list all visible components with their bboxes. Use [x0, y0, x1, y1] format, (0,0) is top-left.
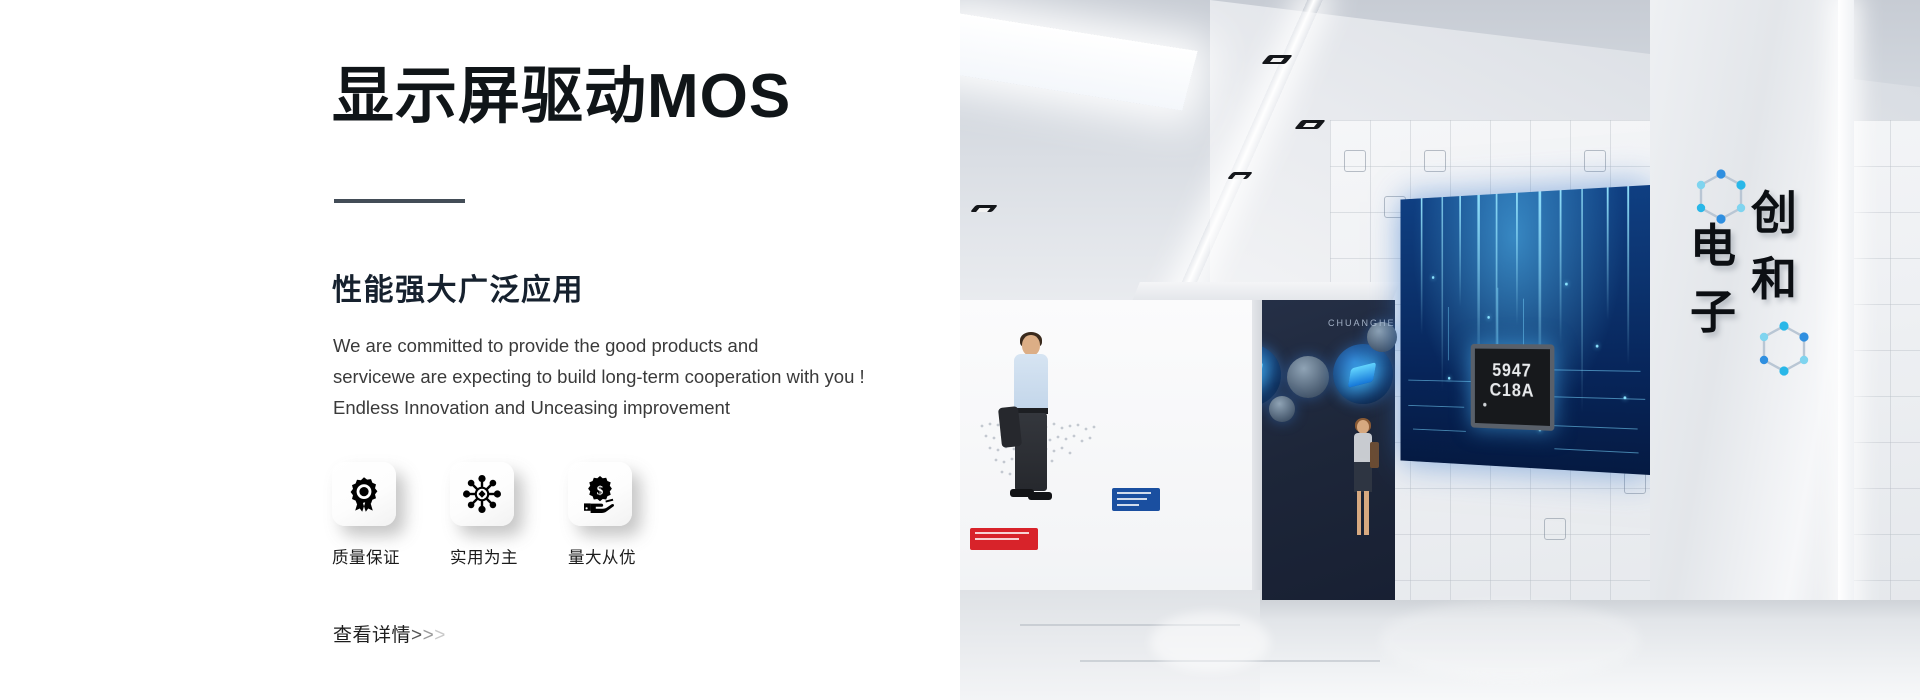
feature-tile	[332, 462, 396, 526]
signage-pillar	[1650, 0, 1850, 700]
body-line-1: We are committed to provide the good pro…	[333, 330, 893, 361]
page-subtitle: 性能强大广泛应用	[332, 265, 584, 309]
blue-wall-sign	[1112, 488, 1160, 511]
wall-medallion	[1287, 356, 1329, 398]
view-details-label: 查看详情	[333, 625, 411, 646]
hero-banner: 显示屏驱动MOS 性能强大广泛应用 We are committed to pr…	[0, 0, 1920, 700]
wall-medallion-chip	[1333, 344, 1393, 404]
svg-text:$: $	[597, 482, 604, 497]
feature-tile: $	[568, 462, 632, 526]
feature-tile	[450, 462, 514, 526]
wall-medallion	[1269, 396, 1295, 422]
wall-tile-icon	[1584, 150, 1606, 172]
wall-sign-char-chuang: 创	[1751, 187, 1797, 239]
chip-label-line2: C18A	[1475, 380, 1550, 402]
feature-item-practical[interactable]: 实用为主	[450, 462, 568, 568]
page-title: 显示屏驱动MOS	[332, 62, 791, 131]
led-display-screen: 5947 C18A	[1401, 185, 1650, 475]
left-text-panel: 显示屏驱动MOS 性能强大广泛应用 We are committed to pr…	[0, 0, 960, 700]
floor-reflection	[1380, 600, 1640, 680]
hand-money-icon: $	[581, 475, 619, 513]
feature-item-quality[interactable]: 质量保证	[332, 462, 450, 568]
man-standing	[1002, 335, 1060, 505]
wall-tile-icon	[1344, 150, 1366, 172]
chip-orientation-dot	[1483, 403, 1486, 407]
network-hub-icon	[463, 475, 501, 513]
wall-sign-char-he: 和	[1751, 253, 1797, 305]
wall-sign-char-zi: 子	[1690, 286, 1736, 338]
navy-wall-caption: CHUANGHE	[1328, 318, 1396, 328]
chevron-2-icon: >	[423, 625, 435, 646]
woman-walking	[1348, 420, 1378, 540]
red-wall-sign	[970, 528, 1038, 550]
chevron-1-icon: >	[411, 625, 423, 646]
chevron-3-icon: >	[434, 625, 446, 646]
view-details-link[interactable]: 查看详情>>>	[333, 620, 446, 647]
body-line-3: Endless Innovation and Unceasing improve…	[333, 392, 893, 423]
feature-item-volume[interactable]: $ 量大从优	[568, 462, 686, 568]
feature-label: 量大从优	[568, 544, 686, 568]
wall-tile-icon	[1624, 472, 1646, 494]
body-paragraph: We are committed to provide the good pro…	[333, 330, 893, 423]
pillar-edge-light	[1838, 0, 1854, 700]
wall-tile-icon	[1544, 518, 1566, 540]
feature-label: 实用为主	[450, 544, 568, 568]
award-ribbon-icon	[346, 476, 382, 512]
chip-label-line1: 5947	[1475, 349, 1550, 382]
wall-tile-icon	[1424, 150, 1446, 172]
floor-reflection	[1150, 612, 1270, 672]
body-line-2: servicewe are expecting to build long-te…	[333, 361, 893, 392]
showroom-interior-photo: CHUANGHE	[960, 0, 1920, 700]
feature-list: 质量保证	[332, 462, 686, 568]
feature-label: 质量保证	[332, 544, 450, 568]
hex-molecule-icon	[1756, 320, 1812, 386]
title-divider	[334, 199, 465, 203]
wall-sign-char-dian: 电	[1690, 220, 1736, 272]
chip-graphic: 5947 C18A	[1471, 344, 1555, 431]
